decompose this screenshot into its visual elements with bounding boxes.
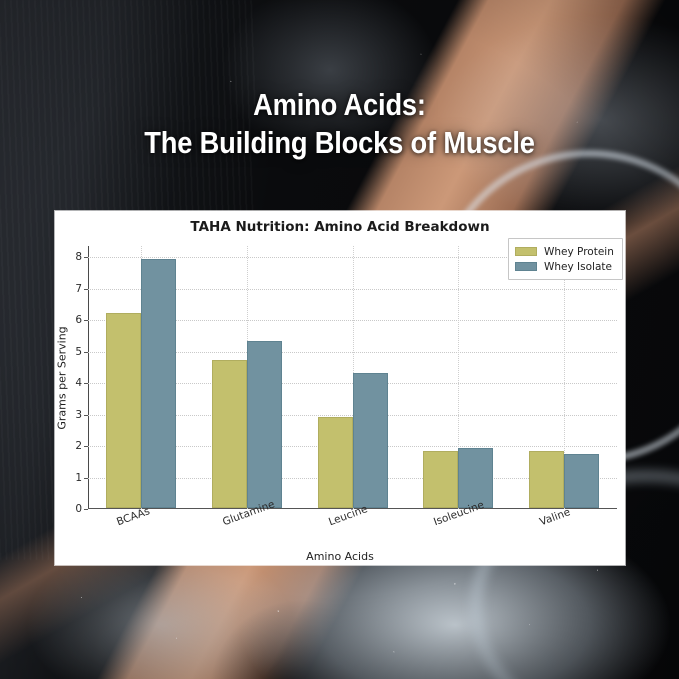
x-tick-label: Valine xyxy=(538,506,572,528)
poster-headline: Amino Acids: The Building Blocks of Musc… xyxy=(41,86,639,162)
bar-valine-whey-protein[interactable] xyxy=(529,451,564,508)
bar-isoleucine-whey-isolate[interactable] xyxy=(458,448,493,508)
y-tick-label: 0 xyxy=(75,503,82,515)
y-tick-mark xyxy=(84,415,88,416)
bar-leucine-whey-protein[interactable] xyxy=(318,417,353,508)
chart-title: TAHA Nutrition: Amino Acid Breakdown xyxy=(55,219,625,235)
plot-area: Grams per Serving 012345678BCAAsGlutamin… xyxy=(88,246,617,509)
legend-swatch-whey-protein xyxy=(515,247,537,256)
y-tick-mark xyxy=(84,446,88,447)
headline-line-1: Amino Acids: xyxy=(41,86,639,124)
y-tick-mark xyxy=(84,257,88,258)
legend-label-whey-isolate: Whey Isolate xyxy=(544,261,612,273)
y-tick-label: 5 xyxy=(75,346,82,358)
legend-item[interactable]: Whey Protein xyxy=(515,244,614,259)
bar-bcaas-whey-protein[interactable] xyxy=(106,313,141,508)
y-tick-label: 1 xyxy=(75,472,82,484)
bar-leucine-whey-isolate[interactable] xyxy=(353,373,388,508)
poster-canvas: Amino Acids: The Building Blocks of Musc… xyxy=(0,0,679,679)
bar-glutamine-whey-isolate[interactable] xyxy=(247,341,282,508)
y-tick-label: 7 xyxy=(75,283,82,295)
y-tick-label: 8 xyxy=(75,251,82,263)
y-tick-mark xyxy=(84,478,88,479)
y-tick-label: 2 xyxy=(75,440,82,452)
y-axis-line xyxy=(88,246,89,509)
y-tick-mark xyxy=(84,352,88,353)
bar-valine-whey-isolate[interactable] xyxy=(564,454,599,508)
y-tick-label: 3 xyxy=(75,409,82,421)
bar-isoleucine-whey-protein[interactable] xyxy=(423,451,458,508)
y-tick-mark xyxy=(84,320,88,321)
y-axis-title: Grams per Serving xyxy=(56,326,69,429)
bar-bcaas-whey-isolate[interactable] xyxy=(141,259,176,508)
headline-line-2: The Building Blocks of Muscle xyxy=(41,124,639,162)
x-axis-title: Amino Acids xyxy=(55,550,625,563)
y-tick-label: 4 xyxy=(75,377,82,389)
y-tick-mark xyxy=(84,509,88,510)
legend-swatch-whey-isolate xyxy=(515,262,537,271)
y-tick-mark xyxy=(84,289,88,290)
legend-label-whey-protein: Whey Protein xyxy=(544,246,614,258)
legend-item[interactable]: Whey Isolate xyxy=(515,259,614,274)
y-tick-label: 6 xyxy=(75,314,82,326)
chart-legend: Whey Protein Whey Isolate xyxy=(508,238,623,280)
bar-glutamine-whey-protein[interactable] xyxy=(212,360,247,508)
chart-panel: TAHA Nutrition: Amino Acid Breakdown Gra… xyxy=(55,211,625,565)
y-tick-mark xyxy=(84,383,88,384)
